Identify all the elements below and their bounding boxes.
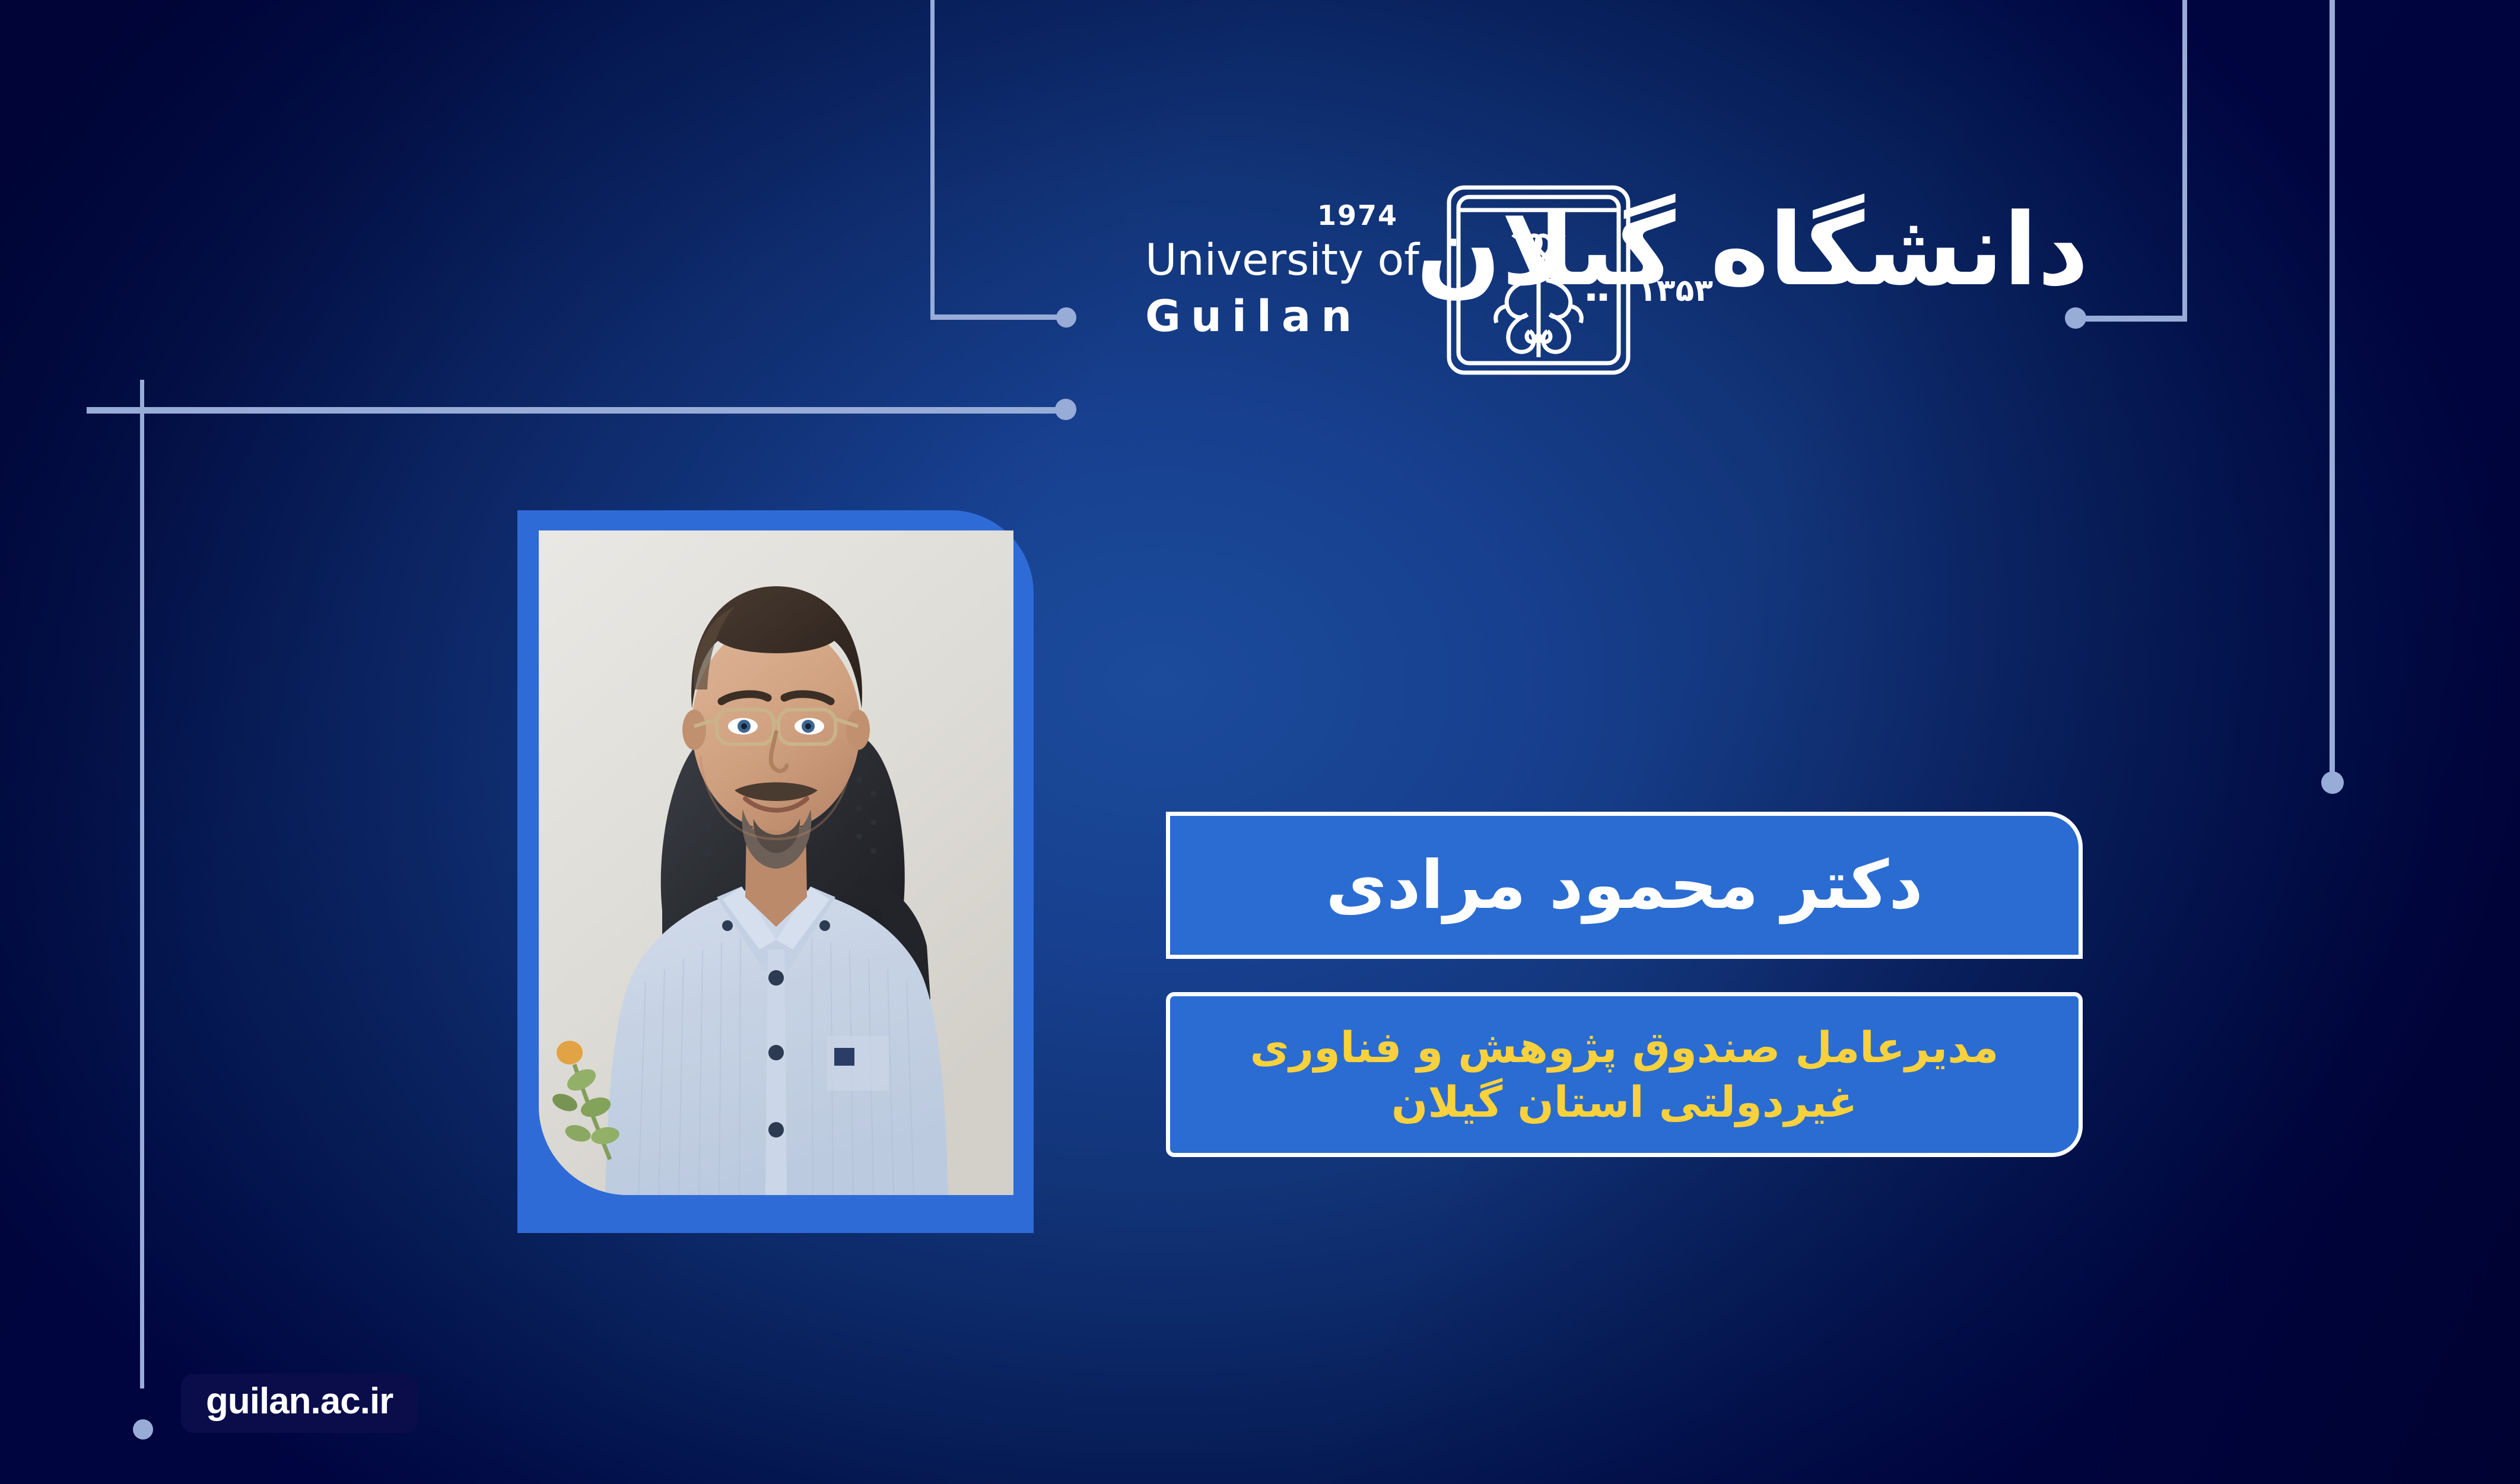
portrait-photo	[539, 530, 1013, 1195]
university-logo: 1974 University of Guilan	[1145, 196, 2089, 392]
decor-line-horizontal-upper-left	[930, 314, 1061, 320]
decor-line-vertical-top-right	[2182, 0, 2187, 318]
person-name: دکتر محمود مرادی	[1326, 852, 1922, 919]
decor-dot-right-mid	[2321, 771, 2344, 794]
decor-line-vertical-left	[140, 380, 144, 1388]
website-badge[interactable]: guilan.ac.ir	[181, 1374, 418, 1433]
decor-line-horizontal-upper-right	[2076, 316, 2187, 322]
decor-line-vertical-top-left	[930, 0, 935, 318]
decor-dot-left-mid	[1055, 399, 1076, 420]
logo-year-gregorian: 1974	[1317, 199, 1398, 231]
person-name-box: دکتر محمود مرادی	[1166, 812, 2083, 959]
logo-english-name: University of Guilan	[1145, 239, 1442, 338]
person-title-box: مدیرعامل صندوق پژوهش و فناوری غیردولتی ا…	[1166, 992, 2083, 1157]
banner-canvas: 1974 University of Guilan	[0, 0, 2520, 1484]
decor-dot-upper-left	[1056, 307, 1076, 328]
logo-english-line1: University of	[1145, 239, 1442, 282]
person-title-line1: مدیرعامل صندوق پژوهش و فناوری	[1250, 1020, 1999, 1075]
logo-persian-name: دانشگاه گیلان	[1650, 183, 2089, 317]
person-title: مدیرعامل صندوق پژوهش و فناوری غیردولتی ا…	[1230, 1020, 2019, 1129]
person-title-line2: غیردولتی استان گیلان	[1250, 1075, 1999, 1129]
decor-line-vertical-far-right	[2330, 0, 2335, 781]
decor-line-horizontal-long-left	[87, 407, 1060, 414]
portrait-frame	[517, 510, 1034, 1233]
website-url: guilan.ac.ir	[206, 1383, 393, 1420]
decor-dot-bottom-left	[133, 1419, 153, 1439]
logo-english-line2: Guilan	[1145, 295, 1442, 338]
